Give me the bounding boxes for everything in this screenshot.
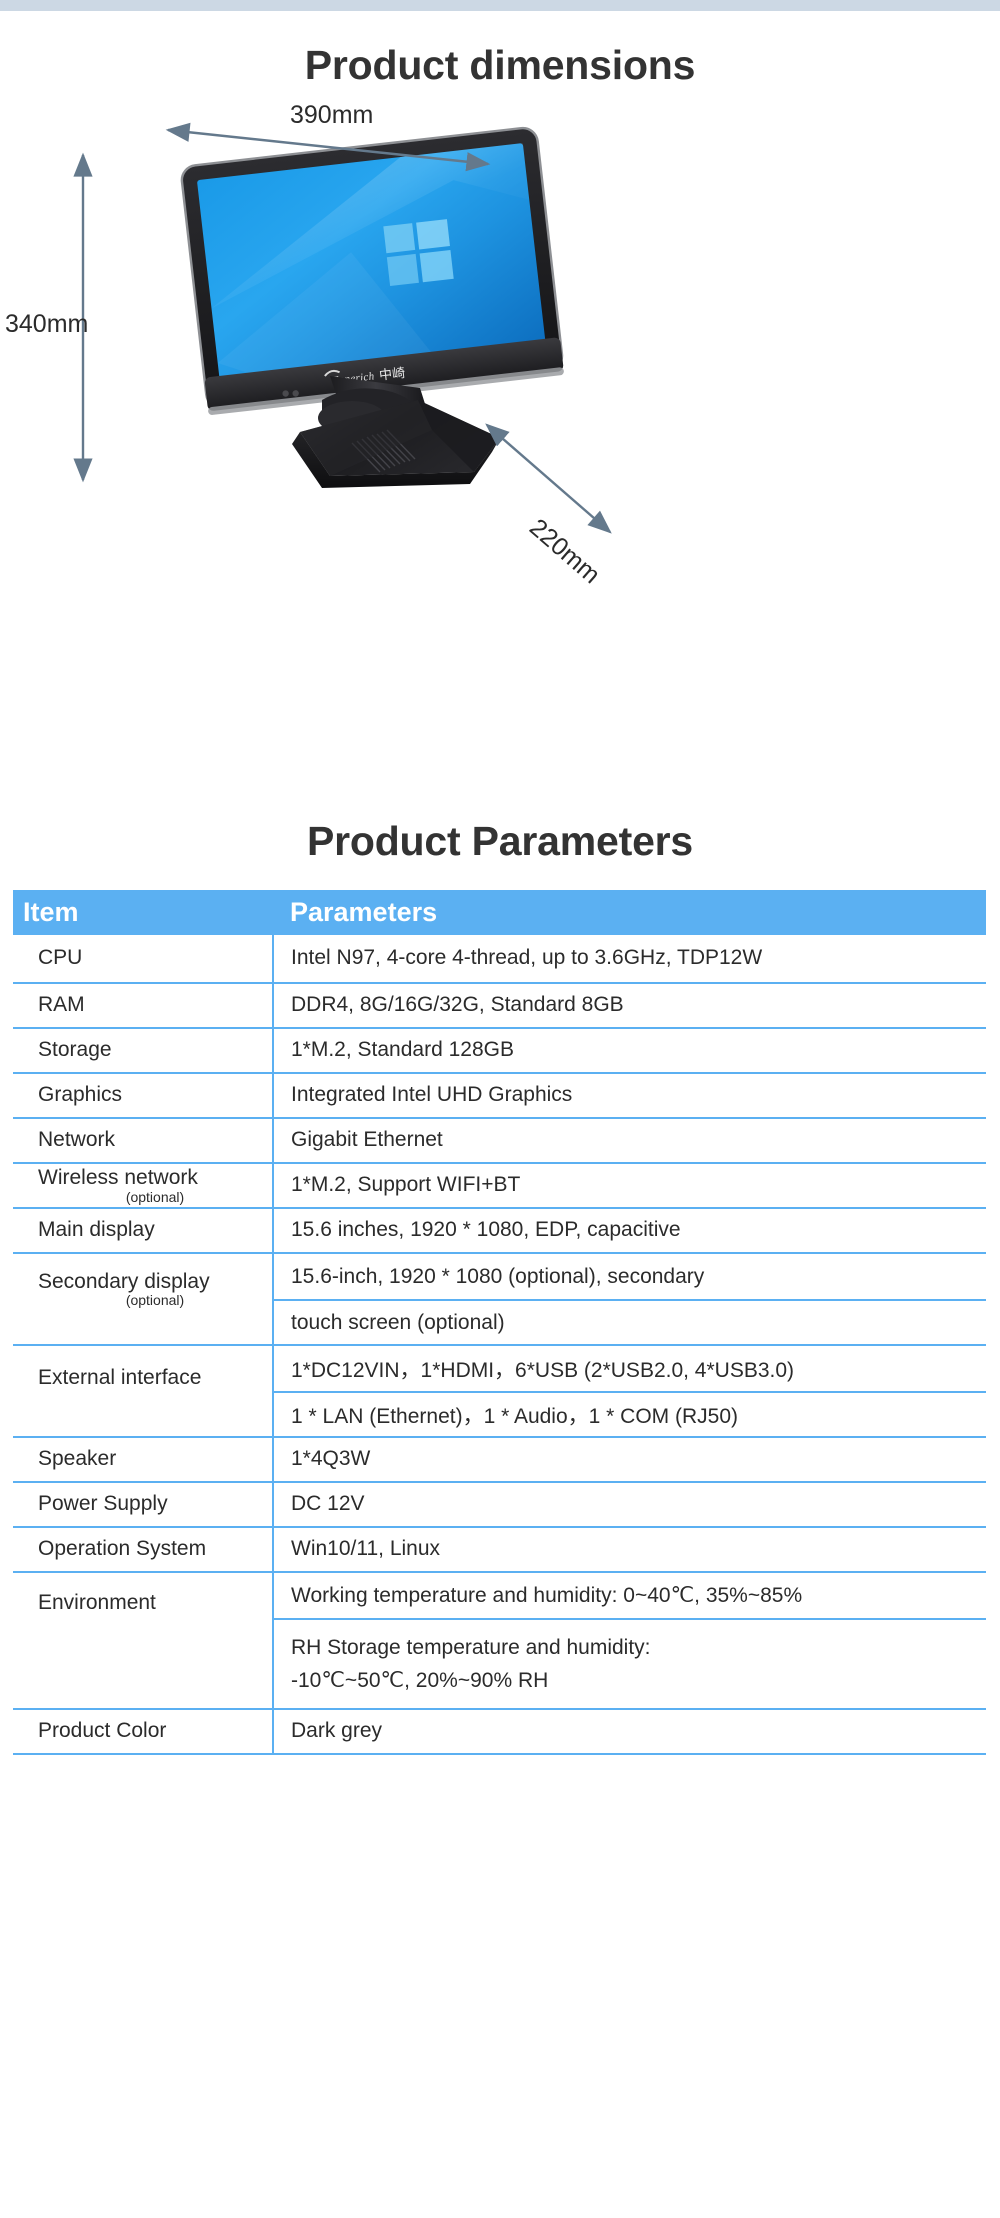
row-value: 1 * LAN (Ethernet)，1 * Audio，1 * COM (RJ… [274,1391,986,1436]
table-row: Wireless network (optional) 1*M.2, Suppo… [13,1163,986,1208]
table-row: Network Gigabit Ethernet [13,1118,986,1163]
row-label: Speaker [13,1437,273,1482]
table-row: External interface 1*DC12VIN，1*HDMI，6*US… [13,1345,986,1437]
row-value: Integrated Intel UHD Graphics [273,1073,986,1118]
table-header-row: Item Parameters [13,890,986,935]
row-value: 1*M.2, Standard 128GB [273,1028,986,1073]
row-label: Main display [13,1208,273,1253]
table-row: RAM DDR4, 8G/16G/32G, Standard 8GB [13,983,986,1028]
row-value-group: 15.6-inch, 1920 * 1080 (optional), secon… [273,1253,986,1345]
row-label: External interface [13,1345,273,1437]
row-label-text: Secondary display [38,1270,210,1293]
table-row: Main display 15.6 inches, 1920 * 1080, E… [13,1208,986,1253]
table-row: Graphics Integrated Intel UHD Graphics [13,1073,986,1118]
row-label-text: Environment [38,1591,156,1614]
table-row: Speaker 1*4Q3W [13,1437,986,1482]
row-value: Working temperature and humidity: 0~40℃,… [274,1573,986,1618]
table-row: Power Supply DC 12V [13,1482,986,1527]
row-label: Graphics [13,1073,273,1118]
row-label: Secondary display (optional) [13,1253,273,1345]
row-value: 1*DC12VIN，1*HDMI，6*USB (2*USB2.0, 4*USB3… [274,1346,986,1391]
row-value: 15.6 inches, 1920 * 1080, EDP, capacitiv… [273,1208,986,1253]
row-label-optional-note: (optional) [38,1189,272,1205]
row-value-group: 1*DC12VIN，1*HDMI，6*USB (2*USB2.0, 4*USB3… [273,1345,986,1437]
row-value: DDR4, 8G/16G/32G, Standard 8GB [273,983,986,1028]
row-value: 1*M.2, Support WIFI+BT [273,1163,986,1208]
row-value: Win10/11, Linux [273,1527,986,1572]
row-label: CPU [13,935,273,983]
table-row: Storage 1*M.2, Standard 128GB [13,1028,986,1073]
row-value-line: -10℃~50℃, 20%~90% RH [291,1664,651,1697]
row-label: Environment [13,1572,273,1709]
row-value-line: RH Storage temperature and humidity: [291,1632,651,1664]
row-value: Intel N97, 4-core 4-thread, up to 3.6GHz… [273,935,986,983]
row-label-text: Wireless network [38,1166,198,1189]
table-row: Environment Working temperature and humi… [13,1572,986,1709]
svg-text:中崎: 中崎 [378,365,406,383]
row-value: Dark grey [273,1709,986,1754]
row-label: Network [13,1118,273,1163]
product-dimensions-diagram: Zonerich 中崎 390mm 340mm [0,100,1000,800]
row-label: Operation System [13,1527,273,1572]
row-value-group: Working temperature and humidity: 0~40℃,… [273,1572,986,1709]
row-label: RAM [13,983,273,1028]
row-value: Gigabit Ethernet [273,1118,986,1163]
height-dimension-label: 340mm [5,310,88,338]
row-label: Power Supply [13,1482,273,1527]
row-value: touch screen (optional) [274,1299,986,1344]
page-title-parameters: Product Parameters [0,818,1000,865]
table-row: Product Color Dark grey [13,1709,986,1754]
row-value: DC 12V [273,1482,986,1527]
column-header-parameters: Parameters [273,890,986,935]
row-label-text: External interface [38,1366,201,1389]
row-value: 1*4Q3W [273,1437,986,1482]
row-value-multiline: RH Storage temperature and humidity: -10… [274,1618,986,1708]
row-label-optional-note: (optional) [38,1292,272,1308]
product-parameters-table: Item Parameters CPU Intel N97, 4-core 4-… [13,890,986,1755]
column-header-item: Item [13,890,273,935]
row-label: Wireless network (optional) [13,1163,273,1208]
depth-dimension-label: 220mm [524,513,605,589]
row-value: 15.6-inch, 1920 * 1080 (optional), secon… [274,1254,986,1299]
top-accent-bar [0,0,1000,11]
page-title-dimensions: Product dimensions [0,42,1000,89]
row-label: Product Color [13,1709,273,1754]
table-row: CPU Intel N97, 4-core 4-thread, up to 3.… [13,935,986,983]
table-row: Operation System Win10/11, Linux [13,1527,986,1572]
table-row: Secondary display (optional) 15.6-inch, … [13,1253,986,1345]
row-label: Storage [13,1028,273,1073]
width-dimension-label: 390mm [290,101,373,129]
